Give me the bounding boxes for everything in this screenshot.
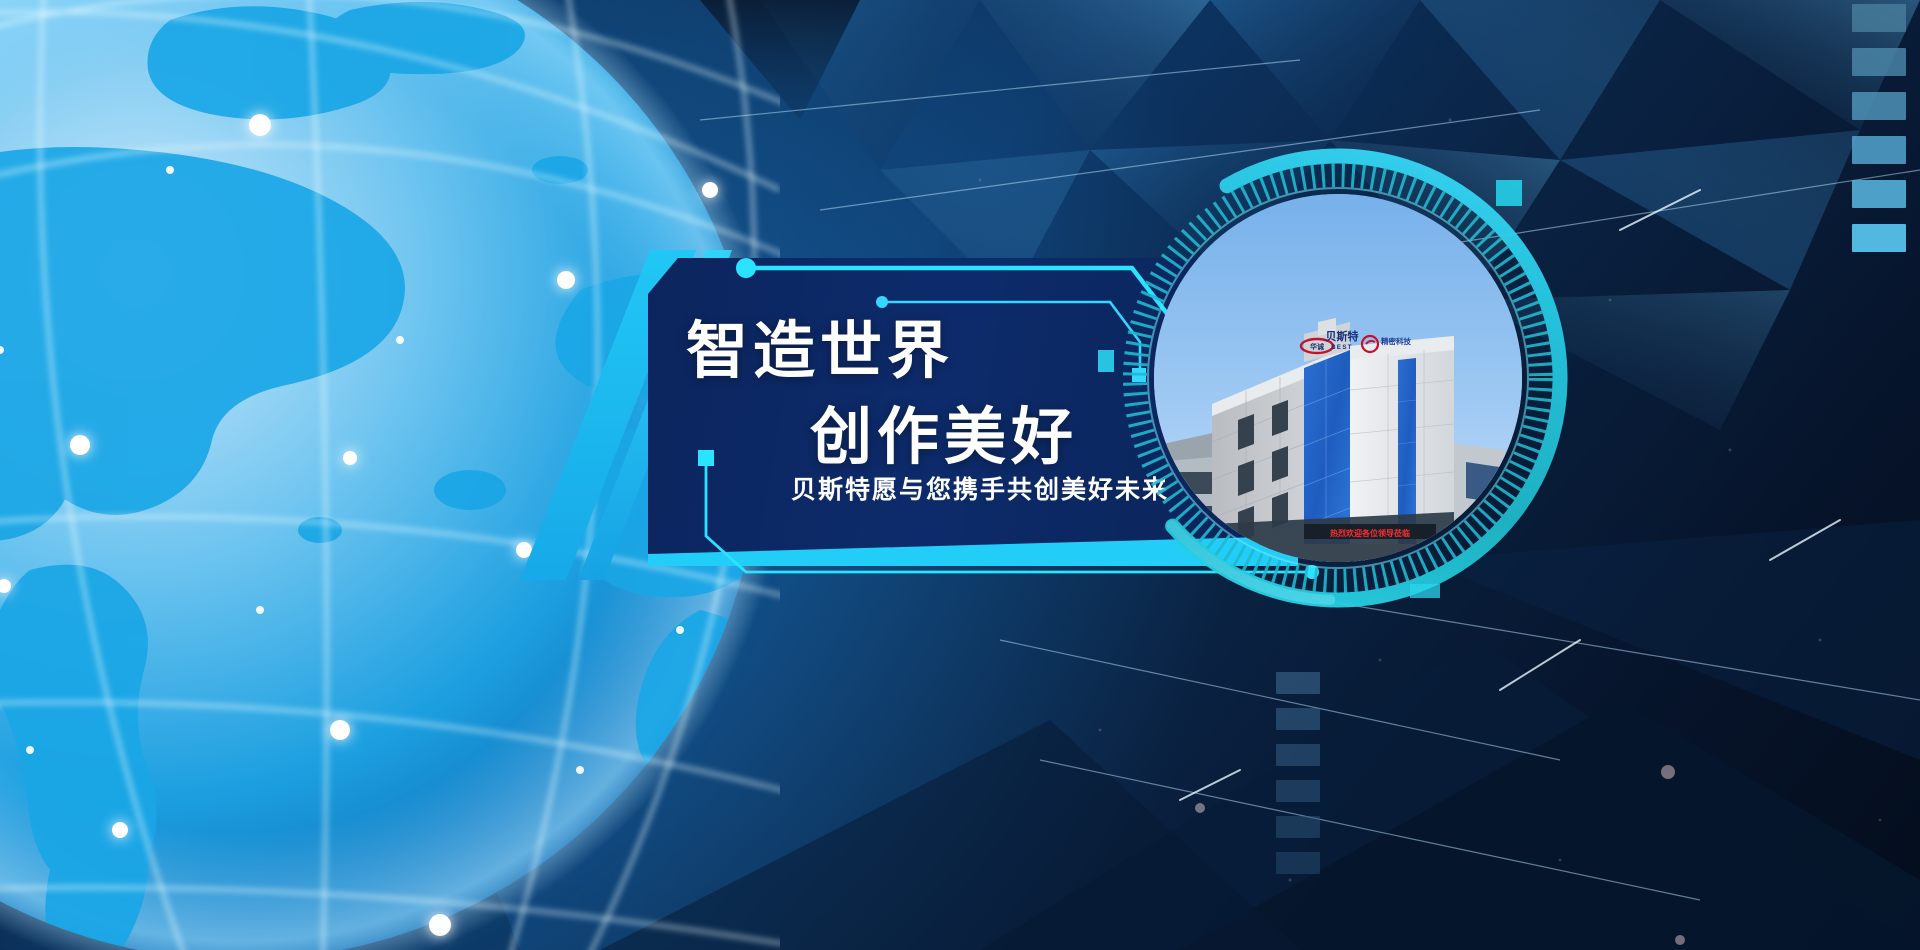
circular-photo-module: 华诚 贝斯特 BEST 精密科技 热烈欢迎各位领导莅临 [1128,168,1548,588]
decor-bars-middle [1276,672,1320,888]
hero-banner: 智造世界 创作美好 贝斯特愿与您携手共创美好未来 [0,0,1920,950]
building-sign-cn-text: 贝斯特 [1326,329,1359,343]
building-sign-right-text: 精密科技 [1381,336,1411,346]
led-banner-text: 热烈欢迎各位领导莅临 [1330,528,1410,538]
decor-bars-top-right [1852,4,1906,268]
building-sign-en-text: BEST [1331,345,1353,351]
office-building-photo: 华诚 贝斯特 BEST 精密科技 热烈欢迎各位领导莅临 [1154,194,1522,562]
building-sign-left-text: 华诚 [1310,342,1324,351]
